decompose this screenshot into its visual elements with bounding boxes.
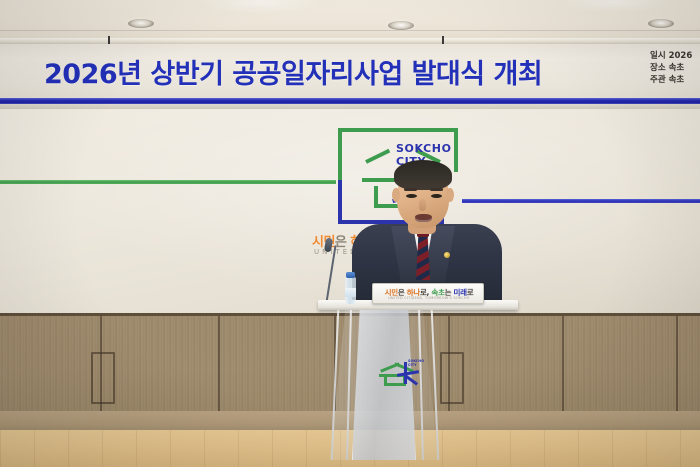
lapel-pin-icon bbox=[444, 252, 450, 258]
eyebrow-right bbox=[430, 188, 443, 191]
banner-detail-date: 일시 2026 bbox=[650, 50, 700, 62]
downlight-icon bbox=[388, 21, 414, 30]
water-bottle-cap bbox=[346, 272, 355, 278]
podium-sign-english: UNITED CITIZENS, TOMORROW'S SOKCHO bbox=[377, 296, 481, 300]
logo-frame-bottom-left bbox=[338, 180, 342, 224]
eye-right bbox=[431, 194, 442, 198]
banner-event-details: 일시 2026 장소 속초 주관 속초 bbox=[650, 50, 700, 86]
downlight-icon bbox=[128, 19, 154, 28]
ear-left bbox=[392, 188, 400, 202]
wood-panel-seam bbox=[676, 316, 678, 413]
banner-headline: 2026년 상반기 공공일자리사업 발대식 개최 bbox=[44, 54, 644, 96]
downlight-icon bbox=[648, 19, 674, 28]
mouth bbox=[415, 214, 432, 222]
backdrop-green-rule bbox=[0, 180, 336, 184]
banner-detail-place: 장소 속초 bbox=[650, 62, 700, 74]
podium-logo-wordmark: SOKCHO CITY bbox=[408, 359, 424, 367]
wood-panel-seam bbox=[562, 316, 564, 413]
podium-slogan-sign: 시민은 하나로, 속초는 미래로 UNITED CITIZENS, TOMORR… bbox=[372, 283, 484, 304]
podium-logo-box bbox=[384, 377, 406, 386]
eye-left bbox=[406, 194, 417, 198]
ear-right bbox=[446, 188, 454, 202]
water-bottle-label bbox=[345, 288, 356, 297]
podium-logo-wordmark-line2: CITY bbox=[408, 363, 424, 367]
eyebrow-left bbox=[404, 188, 417, 191]
press-conference-photo: OY 2026년 상반기 공공일자리사업 발대식 개최 일시 2026 장소 속… bbox=[0, 0, 700, 467]
ceiling-seam bbox=[0, 30, 700, 31]
door-handle-icon[interactable] bbox=[91, 352, 115, 404]
podium-sokcho-logo: SOKCHO CITY bbox=[378, 358, 424, 384]
hair bbox=[394, 160, 452, 190]
logo-frame-top bbox=[338, 128, 458, 132]
door-handle-icon[interactable] bbox=[440, 352, 464, 404]
logo-wordmark-line1: SOKCHO bbox=[396, 142, 472, 155]
nose bbox=[419, 199, 426, 211]
banner-detail-host: 주관 속초 bbox=[650, 74, 700, 86]
wood-panel-seam bbox=[218, 316, 220, 413]
